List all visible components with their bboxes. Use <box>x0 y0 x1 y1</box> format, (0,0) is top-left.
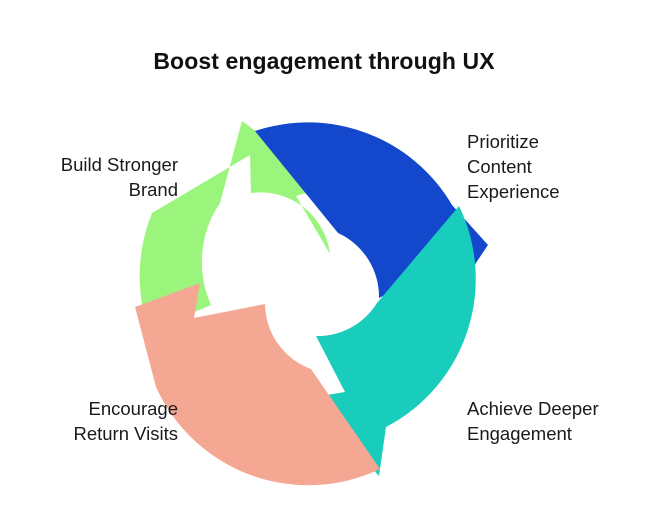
cycle-label-prioritize-content-experience: Prioritize Content Experience <box>467 129 645 204</box>
cycle-label-encourage-return-visits: Encourage Return Visits <box>6 396 178 446</box>
cycle-label-build-stronger-brand: Build Stronger Brand <box>6 152 178 202</box>
cycle-label-achieve-deeper-engagement: Achieve Deeper Engagement <box>467 396 645 446</box>
cycle-diagram <box>0 0 648 525</box>
diagram-page: Boost engagement through UX Build Strong… <box>0 0 648 525</box>
